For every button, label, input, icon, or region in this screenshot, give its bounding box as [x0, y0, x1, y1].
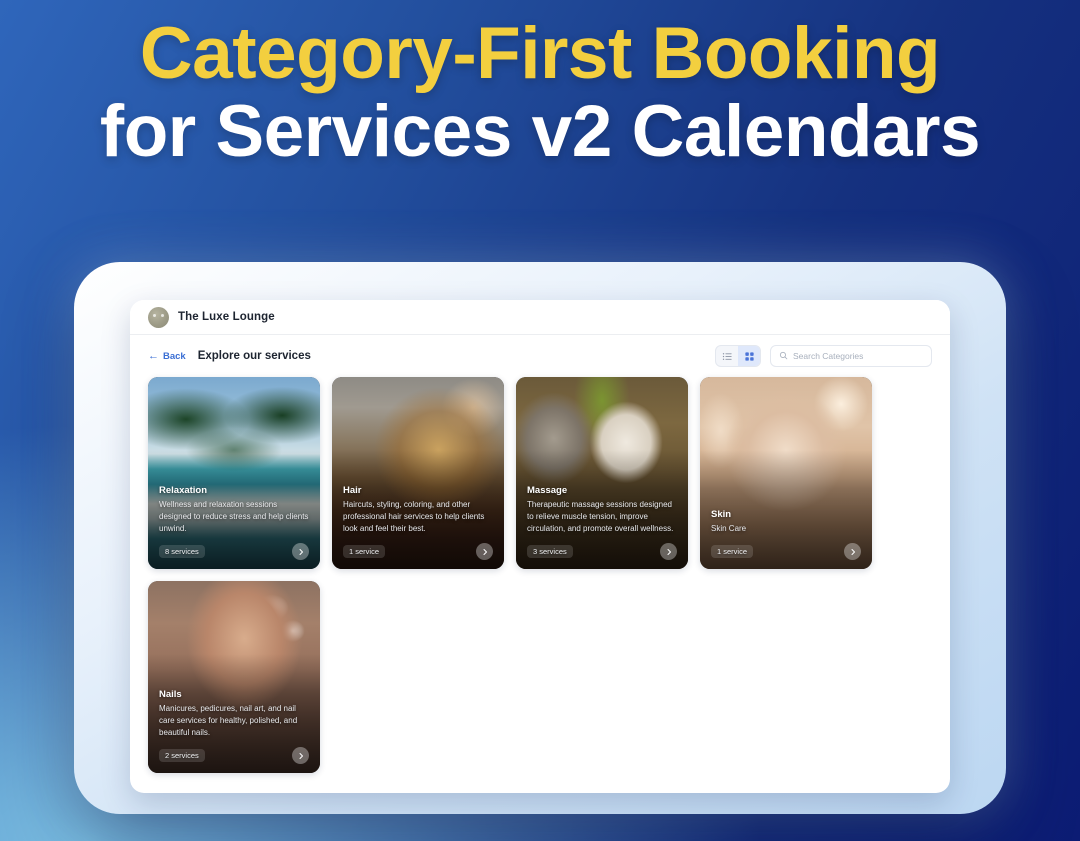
category-body: Relaxation Wellness and relaxation sessi…: [159, 485, 309, 560]
category-title: Relaxation: [159, 485, 309, 496]
list-view-button[interactable]: [716, 346, 738, 366]
category-description: Skin Care: [711, 523, 861, 535]
category-title: Massage: [527, 485, 677, 496]
category-card-hair[interactable]: Hair Haircuts, styling, coloring, and ot…: [332, 377, 504, 569]
category-card-nails[interactable]: Nails Manicures, pedicures, nail art, an…: [148, 581, 320, 773]
category-footer: 1 service: [343, 543, 493, 560]
toolbar-controls: [715, 345, 932, 367]
search-box[interactable]: [770, 345, 932, 367]
category-card-relaxation[interactable]: Relaxation Wellness and relaxation sessi…: [148, 377, 320, 569]
category-footer: 3 services: [527, 543, 677, 560]
brand-bar: The Luxe Lounge: [130, 300, 950, 335]
grid-view-button[interactable]: [738, 346, 760, 366]
view-toggle-group: [715, 345, 761, 367]
headline-line-2: for Services v2 Calendars: [0, 96, 1080, 168]
headline-line-1: Category-First Booking: [0, 18, 1080, 90]
service-count-badge: 1 service: [343, 545, 385, 558]
category-footer: 8 services: [159, 543, 309, 560]
category-body: Nails Manicures, pedicures, nail art, an…: [159, 689, 309, 764]
service-count-badge: 1 service: [711, 545, 753, 558]
category-description: Wellness and relaxation sessions designe…: [159, 499, 309, 535]
page-title: Explore our services: [198, 350, 311, 362]
category-title: Nails: [159, 689, 309, 700]
category-title: Hair: [343, 485, 493, 496]
service-count-badge: 8 services: [159, 545, 205, 558]
service-count-badge: 2 services: [159, 749, 205, 762]
promo-banner: Category-First Booking for Services v2 C…: [0, 0, 1080, 841]
category-body: Massage Therapeutic massage sessions des…: [527, 485, 677, 560]
category-title: Skin: [711, 509, 861, 520]
category-description: Manicures, pedicures, nail art, and nail…: [159, 703, 309, 739]
brand-avatar-icon: [148, 307, 169, 328]
category-body: Skin Skin Care 1 service: [711, 509, 861, 560]
search-icon: [779, 347, 788, 365]
search-input[interactable]: [793, 351, 923, 361]
chevron-right-icon[interactable]: [292, 543, 309, 560]
category-grid: Relaxation Wellness and relaxation sessi…: [130, 377, 950, 793]
back-button[interactable]: ← Back: [148, 351, 186, 362]
category-body: Hair Haircuts, styling, coloring, and ot…: [343, 485, 493, 560]
chevron-right-icon[interactable]: [844, 543, 861, 560]
category-description: Haircuts, styling, coloring, and other p…: [343, 499, 493, 535]
category-description: Therapeutic massage sessions designed to…: [527, 499, 677, 535]
category-card-skin[interactable]: Skin Skin Care 1 service: [700, 377, 872, 569]
toolbar: ← Back Explore our services: [130, 335, 950, 377]
app-window: The Luxe Lounge ← Back Explore our servi…: [130, 300, 950, 793]
category-card-massage[interactable]: Massage Therapeutic massage sessions des…: [516, 377, 688, 569]
grid-view-icon: [744, 351, 755, 362]
chevron-right-icon[interactable]: [660, 543, 677, 560]
chevron-right-icon[interactable]: [292, 747, 309, 764]
category-footer: 2 services: [159, 747, 309, 764]
category-footer: 1 service: [711, 543, 861, 560]
brand-name: The Luxe Lounge: [178, 311, 275, 323]
arrow-left-icon: ←: [148, 351, 159, 362]
back-button-label: Back: [163, 351, 186, 362]
list-view-icon: [722, 351, 733, 362]
chevron-right-icon[interactable]: [476, 543, 493, 560]
service-count-badge: 3 services: [527, 545, 573, 558]
headline: Category-First Booking for Services v2 C…: [0, 18, 1080, 169]
